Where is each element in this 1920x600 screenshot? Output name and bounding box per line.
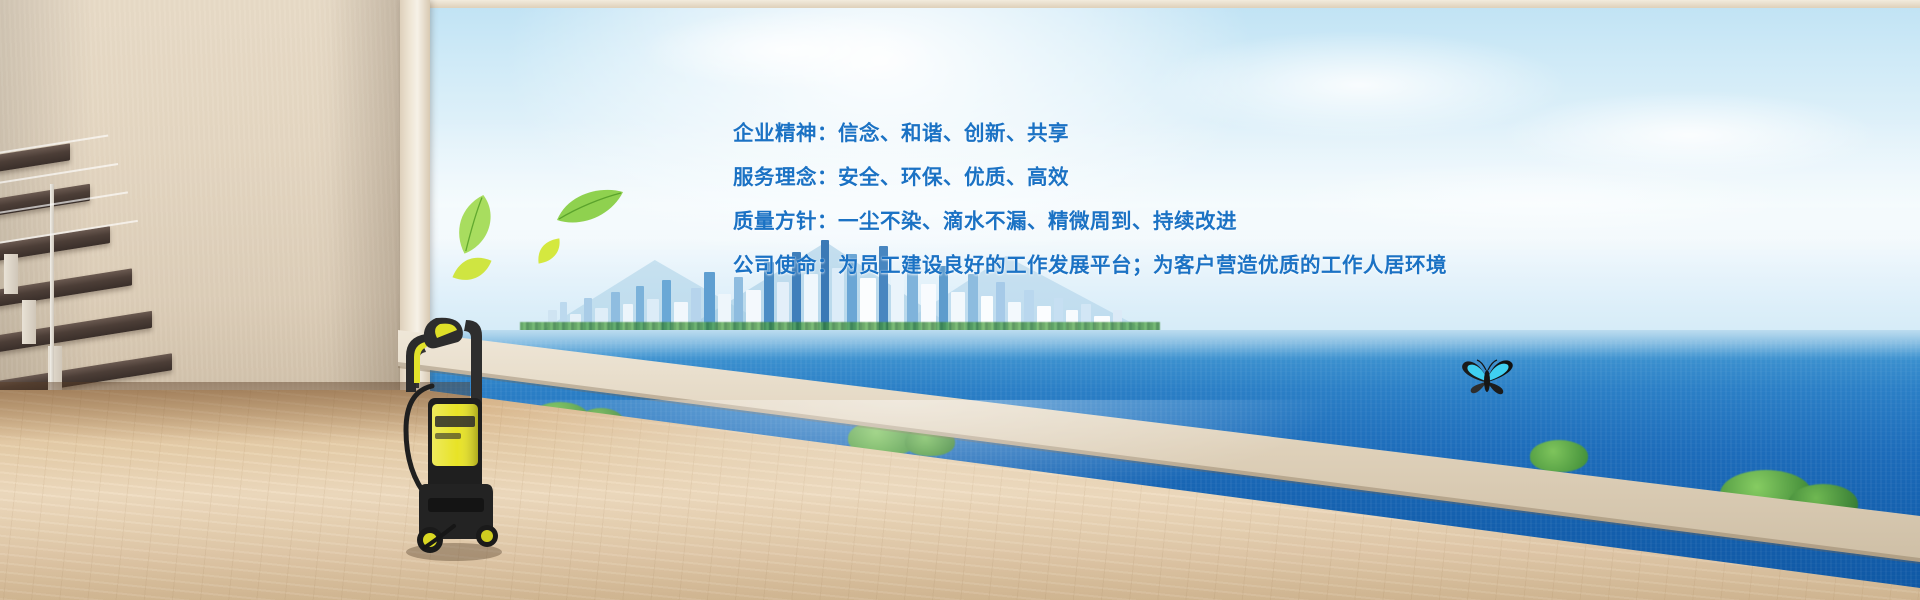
banner-stage: 企业精神：信念、和谐、创新、共享 服务理念：安全、环保、优质、高效 质量方针：一… — [0, 0, 1920, 600]
values-line-quality: 质量方针：一尘不染、滴水不漏、精微周到、持续改进 — [733, 200, 1563, 244]
leaf-icon — [534, 236, 563, 265]
values-line-mission: 公司使命：为员工建设良好的工作发展平台；为客户营造优质的工作人居环境 — [733, 244, 1563, 288]
window-frame-top — [400, 0, 1920, 8]
butterfly-icon — [1455, 350, 1519, 404]
cloud-icon — [640, 10, 940, 90]
leaf-icon — [555, 186, 625, 230]
tree-icon — [1530, 440, 1588, 472]
company-values-text: 企业精神：信念、和谐、创新、共享 服务理念：安全、环保、优质、高效 质量方针：一… — [733, 112, 1563, 288]
values-line-service: 服务理念：安全、环保、优质、高效 — [733, 156, 1563, 200]
pressure-washer — [392, 312, 510, 562]
values-line-spirit: 企业精神：信念、和谐、创新、共享 — [733, 112, 1563, 156]
